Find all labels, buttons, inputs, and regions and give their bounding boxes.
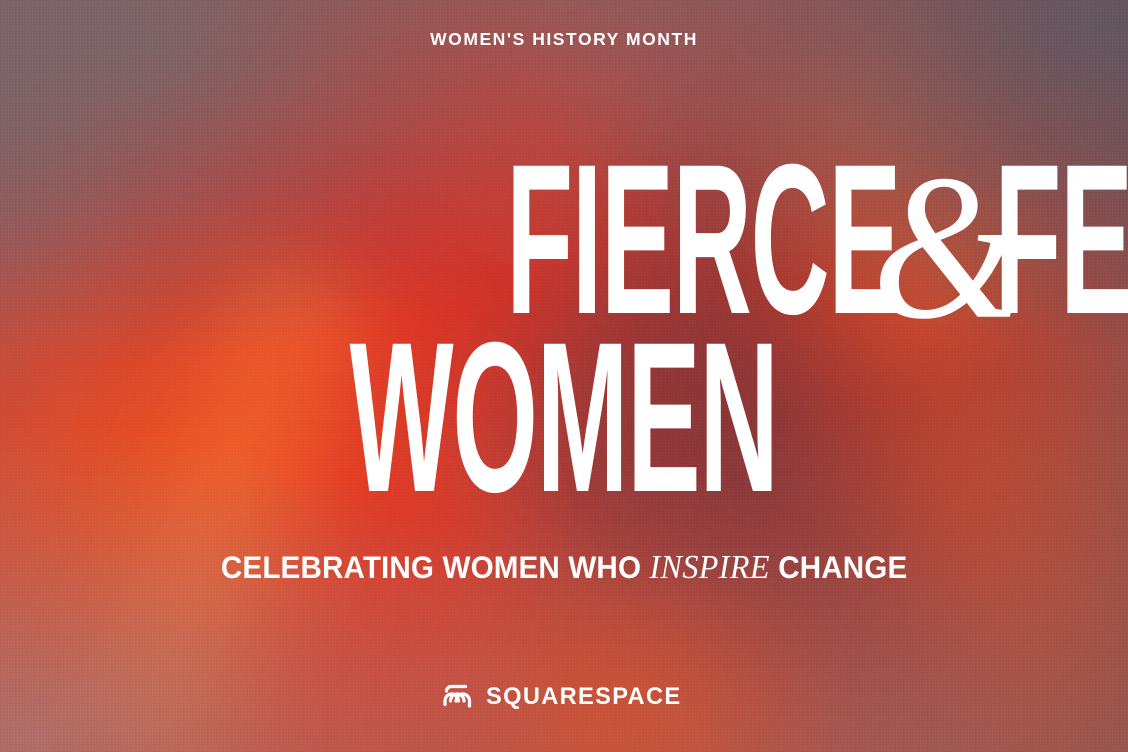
poster-content: WOMEN'S HISTORY MONTH FIERCE&FEARLESS WO… (0, 0, 1128, 752)
squarespace-loops-icon (443, 684, 473, 710)
squarespace-logo-lockup: SQUARESPACE (0, 684, 1128, 710)
subtitle: CELEBRATING WOMEN WHO INSPIRE CHANGE (0, 551, 1128, 585)
headline-ampersand: & (861, 160, 1033, 334)
headline-line-2-inner: WOMEN (350, 328, 778, 508)
subtitle-text-pre: CELEBRATING WOMEN WHO (221, 549, 650, 585)
headline-word-women: WOMEN (350, 298, 778, 537)
womens-history-month-poster: WOMEN'S HISTORY MONTH FIERCE&FEARLESS WO… (0, 0, 1128, 752)
eyebrow-label: WOMEN'S HISTORY MONTH (0, 31, 1128, 49)
subtitle-text-inspire: INSPIRE (649, 549, 769, 586)
headline-line-2: WOMEN (0, 328, 1128, 508)
squarespace-wordmark: SQUARESPACE (486, 685, 681, 709)
subtitle-text-post: CHANGE (770, 549, 908, 585)
subtitle-inner: CELEBRATING WOMEN WHO INSPIRE CHANGE (221, 551, 907, 585)
